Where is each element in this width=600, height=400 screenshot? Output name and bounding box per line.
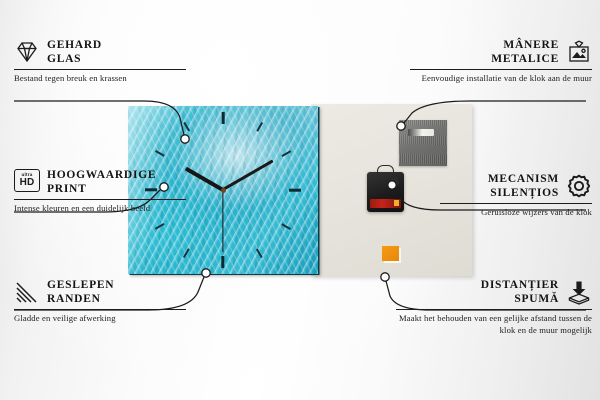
feature-rule [396, 309, 592, 310]
feature-title-line1: DISTANȚIER [481, 279, 559, 291]
feature-title-line2: METALICE [491, 53, 559, 65]
feature-title-line2: PRINT [47, 183, 87, 195]
feature-distantier-spuma: DISTANȚIER SPUMĂ Maakt het behouden van … [396, 278, 592, 336]
foam-spacer [382, 246, 399, 261]
feature-description: Eenvoudige installatie van de klok aan d… [410, 73, 592, 85]
infographic-canvas: GEHARD GLAS Bestand tegen breuk en krass… [0, 0, 600, 400]
feature-title-line2: SPUMĂ [514, 293, 559, 305]
feature-description: Intense kleuren en een duidelijk beeld [14, 203, 186, 215]
feature-title-line2: SILENȚIOS [490, 187, 559, 199]
feature-manere-metalice: MÂNERE METALICE Eenvoudige installatie v… [410, 38, 592, 85]
feature-title-line1: GESLEPEN [47, 279, 114, 291]
feature-title-line1: GEHARD [47, 39, 102, 51]
beveled-edge-icon [14, 279, 40, 305]
feature-rule [410, 69, 592, 70]
feature-hoogwaardige-print: ultra HD HOOGWAARDIGE PRINT Intense kleu… [14, 168, 186, 215]
feature-rule [14, 309, 186, 310]
clock-center-pin [221, 188, 226, 193]
metal-hanger-plate [399, 120, 447, 166]
feature-description: Bestand tegen breuk en krassen [14, 73, 186, 85]
feature-geslepen-randen: GESLEPEN RANDEN Gladde en veilige afwerk… [14, 278, 186, 325]
hanger-slot [408, 129, 434, 136]
feature-description: Geruisloze wijzers van de klok [440, 207, 592, 219]
feature-rule [440, 203, 592, 204]
ultra-hd-icon: ultra HD [14, 169, 40, 195]
gear-icon [566, 173, 592, 199]
feature-title-line1: MÂNERE [503, 39, 559, 51]
diamond-icon [14, 39, 40, 65]
feature-title-line1: MECANISM [488, 173, 559, 185]
feature-description: Gladde en veilige afwerking [14, 313, 186, 325]
picture-frame-hanger-icon [566, 39, 592, 65]
feature-gehard-glas: GEHARD GLAS Bestand tegen breuk en krass… [14, 38, 186, 85]
feature-rule [14, 69, 186, 70]
feature-description: Maakt het behouden van een gelijke afsta… [396, 313, 592, 336]
quartz-movement [367, 172, 404, 212]
feature-title-line2: GLAS [47, 53, 81, 65]
hanger-loop [377, 165, 394, 174]
ultra-hd-icon-main: HD [20, 178, 35, 188]
battery [370, 199, 401, 208]
feature-mecanism-silentios: MECANISM SILENȚIOS Geruisloze wijzers va… [440, 172, 592, 219]
feature-title-line1: HOOGWAARDIGE [47, 169, 156, 181]
foam-spacer-icon [566, 279, 592, 305]
feature-rule [14, 199, 186, 200]
setting-dial [390, 178, 399, 187]
feature-title-line2: RANDEN [47, 293, 101, 305]
